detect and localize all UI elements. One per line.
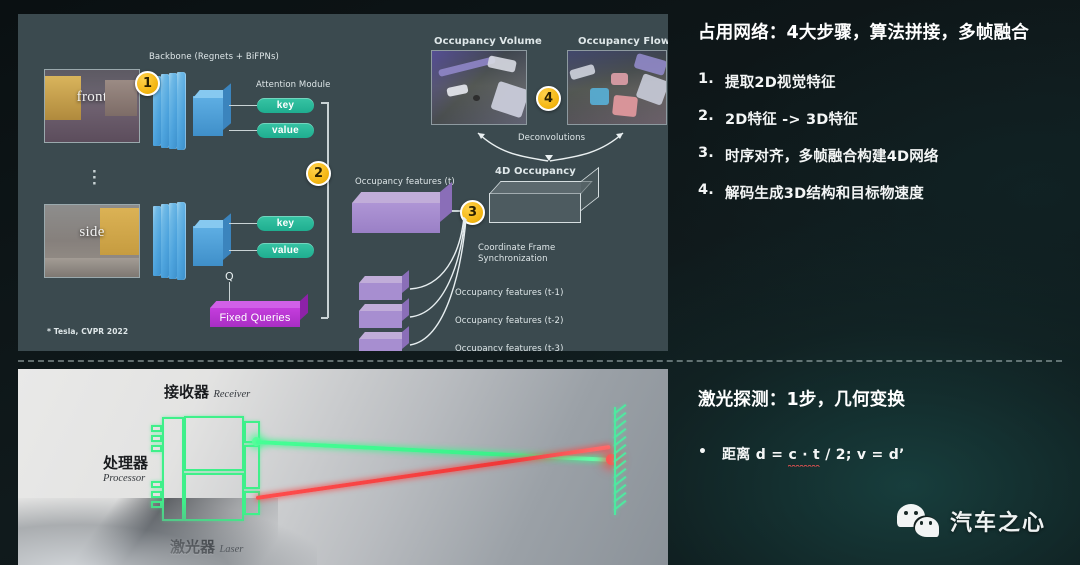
step-number: 3. [698,145,725,166]
connector-value-1 [229,130,257,131]
fixed-queries-box: Fixed Queries [210,301,308,327]
lidar-diagram-photo: 接收器 Receiver 处理器 Processor 激光器 Laser [18,369,668,565]
coordinate-sync-line2: Synchronization [478,254,548,264]
occupancy-volume-label: Occupancy Volume [434,36,542,47]
formula-text: 距离 d = c · t / 2; v = d’ [722,444,905,464]
backbone-label: Backbone (Regnets + BiFPNs) [149,52,279,62]
formula-prefix: 距离 d = [722,447,788,463]
step-text: 时序对齐，多帧融合构建4D网络 [725,145,939,166]
step-text: 提取2D视觉特征 [725,71,836,92]
occupancy-features-t1-label: Occupancy features (t-1) [455,288,563,298]
receiver-label: 接收器 Receiver [164,381,250,402]
connector-value-2 [229,250,257,251]
watermark: 汽车之心 [897,504,1046,537]
bracket-bottom [321,317,328,319]
watermark-name: 汽车之心 [950,505,1046,537]
connector-key-1 [229,105,257,106]
laser-label-cn: 激光器 [170,538,215,556]
wechat-icon [897,504,939,537]
laser-beam-green [256,440,612,462]
fixed-queries-label: Fixed Queries [210,308,300,327]
formula-underlined-term: c · t [788,447,820,463]
camera-side-label: side [79,224,104,241]
step-number: 2. [698,108,725,129]
step-text: 2D特征 -> 3D特征 [725,108,858,129]
backbone-slabs-row2 [153,202,187,280]
occupancy-4d-label: 4D Occupancy [495,166,576,177]
processor-label: 处理器 Processor [103,452,148,484]
key-box-side: key [257,216,314,231]
steps-list: 1. 提取2D视觉特征 2. 2D特征 -> 3D特征 3. 时序对齐，多帧融合… [698,71,1070,203]
feature-merge-curves [398,209,488,351]
bracket-top [321,102,328,104]
photo-shadow [18,498,278,565]
badge-1: 1 [135,71,160,96]
formula-row: • 距离 d = c · t / 2; v = d’ [698,444,1070,464]
bottom-text-block: 激光探测：1步，几何变换 • 距离 d = c · t / 2; v = d’ [698,389,1070,464]
backbone-cube-row1 [193,90,231,136]
top-headline: 占用网络：4大步骤，算法拼接，多帧融合 [698,22,1070,45]
source-note: * Tesla, CVPR 2022 [47,327,128,336]
attention-module-label: Attention Module [256,80,330,90]
step-text: 解码生成3D结构和目标物速度 [725,182,924,203]
step-item: 4. 解码生成3D结构和目标物速度 [698,182,1070,203]
backbone-cube-row2 [193,220,231,266]
formula-suffix: / 2; v = d’ [820,447,905,463]
laser-label: 激光器 Laser [170,536,243,557]
laser-label-en: Laser [219,544,243,555]
deconvolutions-label: Deconvolutions [518,133,585,143]
coordinate-sync-line1: Coordinate Frame [478,243,555,253]
laser-beam-red [256,445,611,500]
occupancy-flow-image [567,50,667,125]
receiver-label-cn: 接收器 [164,383,209,401]
key-box-front: key [257,98,314,113]
receiver-label-en: Receiver [213,389,250,400]
occupancy-network-diagram: front ··· side Backbone (Regnets + BiFPN… [18,14,668,351]
occupancy-features-t-label: Occupancy features (t) [355,177,455,187]
connector-key-2 [229,223,257,224]
formula-bullet: • [698,444,722,464]
value-box-side: value [257,243,314,258]
badge-2: 2 [306,161,331,186]
bracket-vertical [327,102,329,318]
cameras-ellipsis: ··· [92,169,98,187]
top-text-block: 占用网络：4大步骤，算法拼接，多帧融合 1. 提取2D视觉特征 2. 2D特征 … [698,22,1070,219]
step-number: 1. [698,71,725,92]
processor-label-en: Processor [103,473,148,484]
camera-front-label: front [77,89,108,106]
step-item: 1. 提取2D视觉特征 [698,71,1070,92]
value-box-front: value [257,123,314,138]
bottom-headline: 激光探测：1步，几何变换 [698,389,1070,412]
occupancy-4d-box [489,181,599,223]
camera-thumbnail-side: side [44,204,140,278]
badge-4: 4 [536,86,561,111]
step-item: 2. 2D特征 -> 3D特征 [698,108,1070,129]
step-number: 4. [698,182,725,203]
occupancy-features-t2-label: Occupancy features (t-2) [455,316,563,326]
processor-label-cn: 处理器 [103,452,148,473]
section-divider [18,360,1062,362]
occupancy-flow-label: Occupancy Flow [578,36,668,47]
camera-thumbnail-front: front [44,69,140,143]
step-item: 3. 时序对齐，多帧融合构建4D网络 [698,145,1070,166]
occupancy-volume-image [431,50,527,125]
occupancy-features-t3-label: Occupancy features (t-3) [455,344,563,351]
